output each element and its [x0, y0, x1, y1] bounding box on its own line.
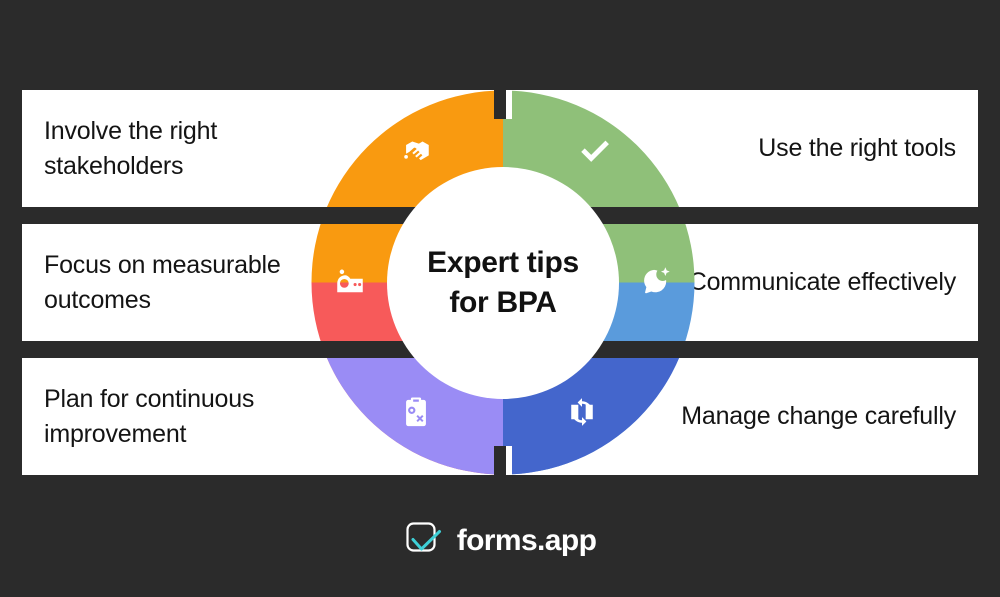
- tip-label: Focus on measurable outcomes: [44, 248, 281, 317]
- tip-label-line1: Focus on measurable: [44, 251, 281, 279]
- center-circle: Expert tips for BPA: [387, 167, 619, 399]
- tip-label-line2: stakeholders: [44, 152, 183, 180]
- tip-label: Plan for continuous improvement: [44, 382, 254, 451]
- tip-label: Manage change carefully: [681, 399, 956, 434]
- change-swap-icon: [565, 395, 599, 429]
- center-title-line2: for BPA: [449, 286, 556, 319]
- checkmark-icon: [576, 133, 614, 171]
- tip-label-line2: outcomes: [44, 286, 151, 314]
- target-gauge-icon: [333, 265, 367, 299]
- handshake-icon: [399, 135, 433, 169]
- tip-label: Use the right tools: [758, 131, 956, 166]
- chat-sparkle-icon: [639, 265, 673, 299]
- tip-label: Involve the right stakeholders: [44, 114, 217, 183]
- brand-logo: forms.app: [0, 520, 1000, 562]
- infographic-canvas: Involve the right stakeholders Focus on …: [0, 0, 1000, 597]
- forms-app-logo-text: forms.app: [457, 524, 597, 558]
- tip-label: Communicate effectively: [689, 265, 956, 300]
- tip-label-line1: Involve the right: [44, 117, 217, 145]
- forms-app-logo-icon: [404, 520, 446, 562]
- center-title-line1: Expert tips: [427, 246, 579, 279]
- tip-label-line1: Plan for continuous: [44, 385, 254, 413]
- clipboard-strategy-icon: [399, 395, 433, 429]
- center-title: Expert tips for BPA: [427, 243, 579, 323]
- tip-label-line2: improvement: [44, 420, 186, 448]
- tips-ring: Expert tips for BPA: [311, 90, 695, 475]
